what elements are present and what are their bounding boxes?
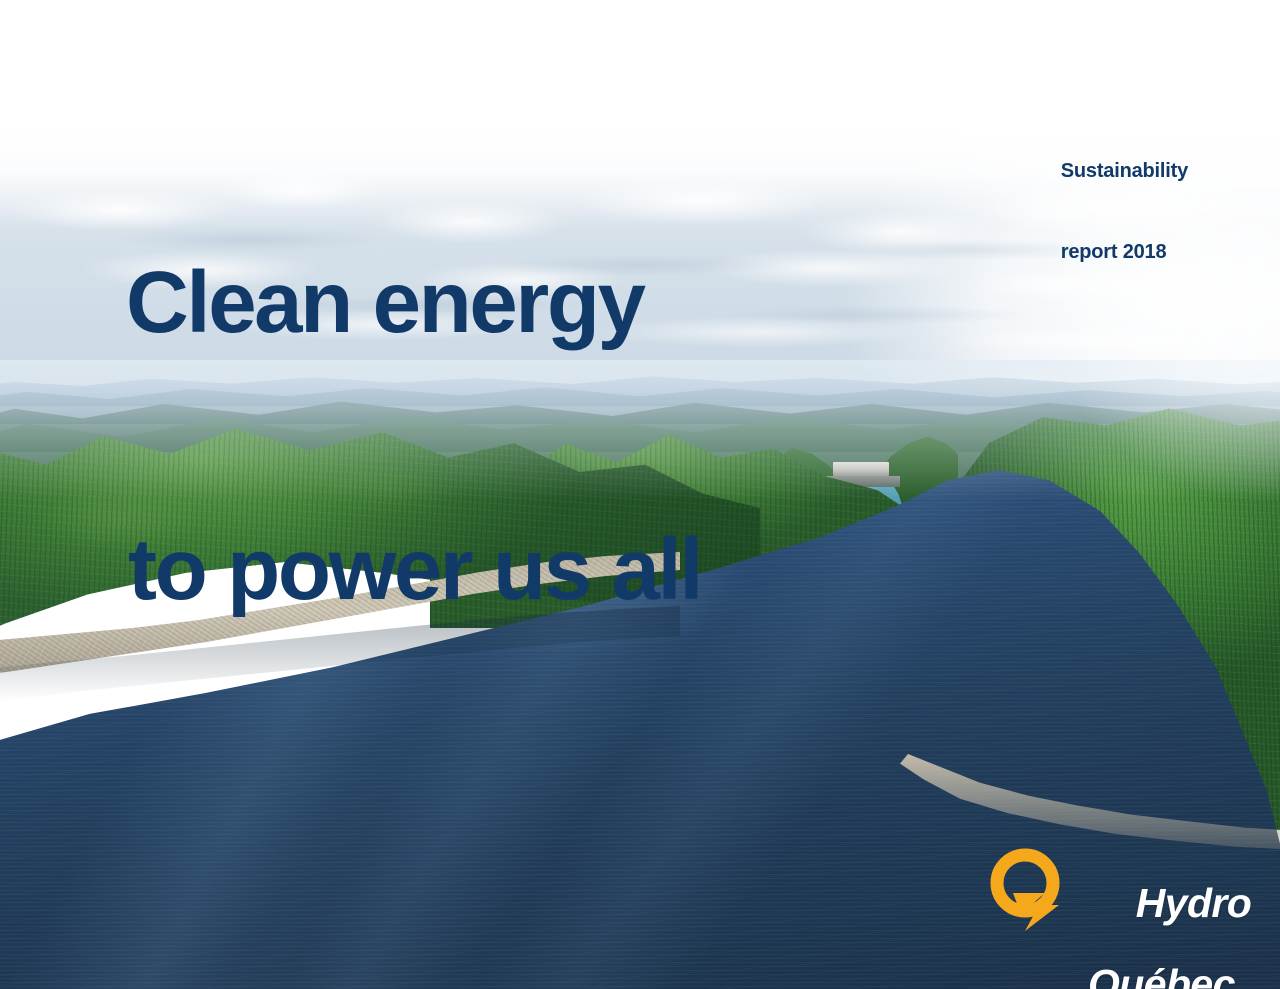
page-title: Clean energy to power us all	[126, 82, 701, 792]
report-label-line-1: Sustainability	[1061, 158, 1188, 185]
hydro-quebec-wordmark: Hydro Québec	[1071, 843, 1251, 989]
hydro-quebec-logo: Hydro Québec	[985, 843, 1230, 935]
hydro-quebec-q-lightning-icon	[985, 845, 1077, 933]
report-label: Sustainability report 2018	[1061, 104, 1188, 320]
report-cover: Clean energy to power us all Sustainabil…	[0, 0, 1280, 989]
dam-powerhouse	[833, 462, 889, 476]
logo-word-hydro: Hydro	[1136, 880, 1251, 926]
page-title-line-2: to power us all	[128, 526, 701, 615]
logo-word-quebec: Québec	[1088, 964, 1251, 989]
page-title-line-1: Clean energy	[126, 259, 701, 348]
report-label-line-2: report 2018	[1061, 239, 1188, 266]
